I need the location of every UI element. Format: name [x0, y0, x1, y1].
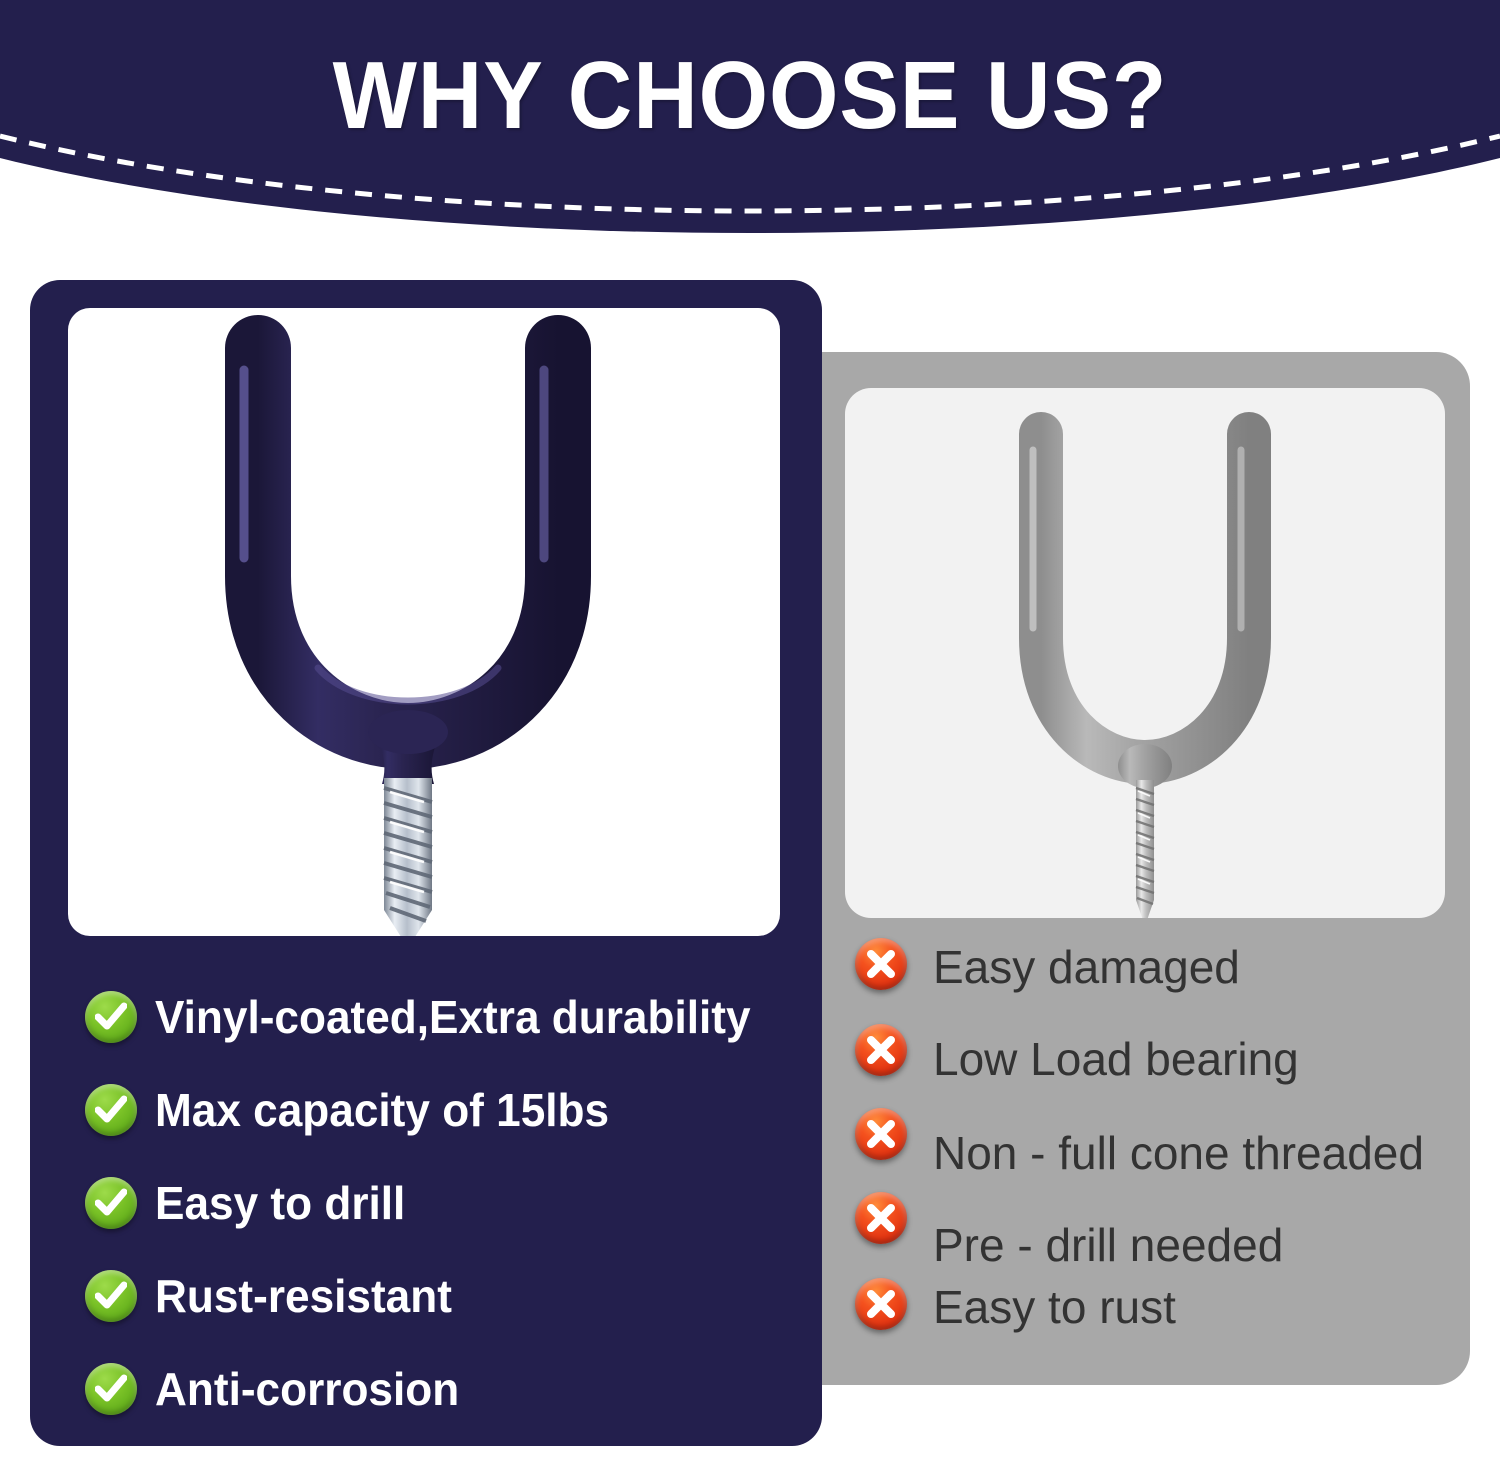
pro-item-label: Easy to drill — [155, 1180, 405, 1226]
red-x-icon — [855, 1024, 907, 1076]
con-item-label: Non - full cone threaded — [933, 1130, 1424, 1176]
con-item-label: Pre - drill needed — [933, 1222, 1283, 1268]
pro-item-label: Rust-resistant — [155, 1273, 452, 1319]
pro-product-photo — [68, 308, 780, 936]
list-item: Rust-resistant — [85, 1249, 825, 1342]
list-item: Easy to drill — [85, 1156, 825, 1249]
con-item-label: Easy to rust — [933, 1284, 1176, 1330]
red-x-icon — [855, 938, 907, 990]
red-x-icon — [855, 1192, 907, 1244]
green-check-icon — [85, 1270, 137, 1322]
green-check-icon — [85, 991, 137, 1043]
page-title: WHY CHOOSE US? — [53, 48, 1448, 144]
con-drawback-list: Easy damaged Low Load bearing Non - full… — [855, 938, 1475, 1398]
header-banner: WHY CHOOSE US? — [0, 0, 1500, 260]
pro-item-label: Max capacity of 15lbs — [155, 1087, 609, 1133]
list-item: Easy damaged — [855, 938, 1475, 1030]
navy-u-hook-image — [68, 308, 780, 936]
con-product-photo — [845, 388, 1445, 918]
list-item: Anti-corrosion — [85, 1342, 825, 1435]
con-item-label: Easy damaged — [933, 944, 1240, 990]
list-item: Max capacity of 15lbs — [85, 1063, 825, 1156]
list-item: Easy to rust — [855, 1306, 1475, 1398]
gray-u-hook-image — [845, 388, 1445, 918]
pro-panel: Vinyl-coated,Extra durability Max capaci… — [30, 280, 822, 1446]
pro-item-label: Vinyl-coated,Extra durability — [155, 994, 751, 1040]
con-item-label: Low Load bearing — [933, 1036, 1299, 1082]
list-item: Non - full cone threaded — [855, 1122, 1475, 1214]
green-check-icon — [85, 1363, 137, 1415]
list-item: Vinyl-coated,Extra durability — [85, 970, 825, 1063]
red-x-icon — [855, 1108, 907, 1160]
red-x-icon — [855, 1278, 907, 1330]
green-check-icon — [85, 1084, 137, 1136]
pro-feature-list: Vinyl-coated,Extra durability Max capaci… — [85, 970, 825, 1435]
pro-item-label: Anti-corrosion — [155, 1366, 459, 1412]
list-item: Low Load bearing — [855, 1030, 1475, 1122]
green-check-icon — [85, 1177, 137, 1229]
